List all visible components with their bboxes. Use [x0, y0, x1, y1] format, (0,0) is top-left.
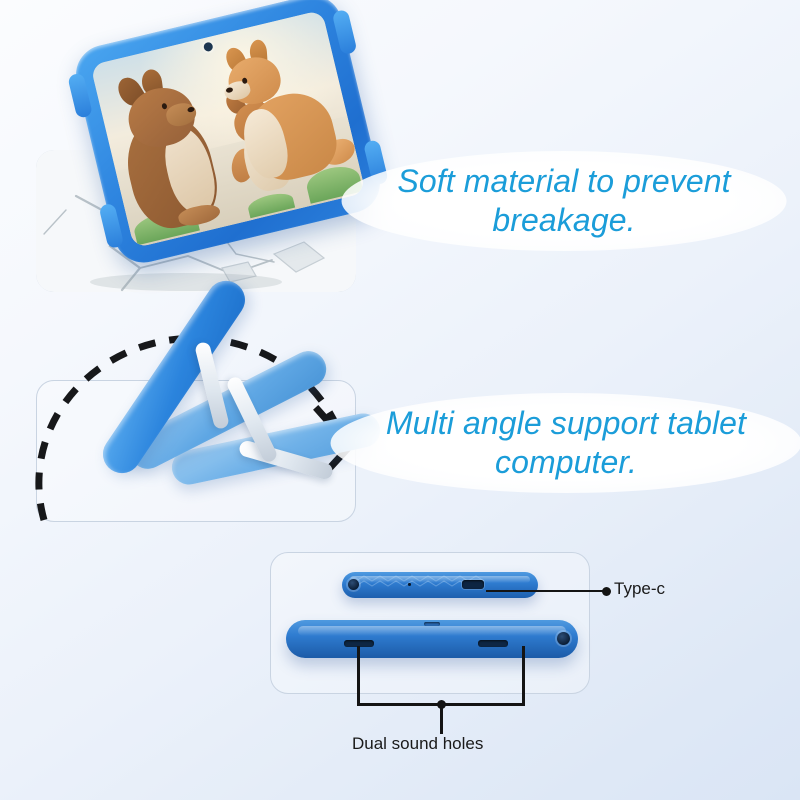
sound-hole-drop-line — [440, 706, 443, 734]
sound-hole-leader-right — [522, 646, 525, 706]
caption-multi-angle-line1: Multi angle support tablet — [348, 404, 784, 443]
caption-soft-material: Soft material to prevent breakage. — [358, 162, 770, 240]
type-c-port[interactable] — [462, 580, 484, 589]
case-edge-view-bottom — [286, 620, 578, 658]
callout-label-dual-sound-holes: Dual sound holes — [352, 734, 483, 754]
caption-multi-angle: Multi angle support tablet computer. — [348, 404, 784, 482]
sound-hole-leader-left — [357, 646, 360, 706]
type-c-leader — [486, 590, 604, 592]
caption-soft-material-line2: breakage. — [358, 201, 770, 240]
microphone-hole-icon — [408, 583, 411, 586]
camera-lens-icon — [348, 579, 359, 590]
infographic-stage: Soft material to prevent breakage. Multi… — [0, 0, 800, 800]
callout-label-type-c: Type-c — [614, 579, 665, 599]
type-c-leader-dot — [602, 587, 611, 596]
caption-soft-material-line1: Soft material to prevent — [358, 162, 770, 201]
button-indent-icon — [424, 622, 440, 626]
speaker-hole-right — [478, 640, 508, 647]
camera-lens-icon-bottom — [557, 632, 570, 645]
case-edge-view-top — [342, 572, 538, 598]
caption-multi-angle-line2: computer. — [348, 443, 784, 482]
